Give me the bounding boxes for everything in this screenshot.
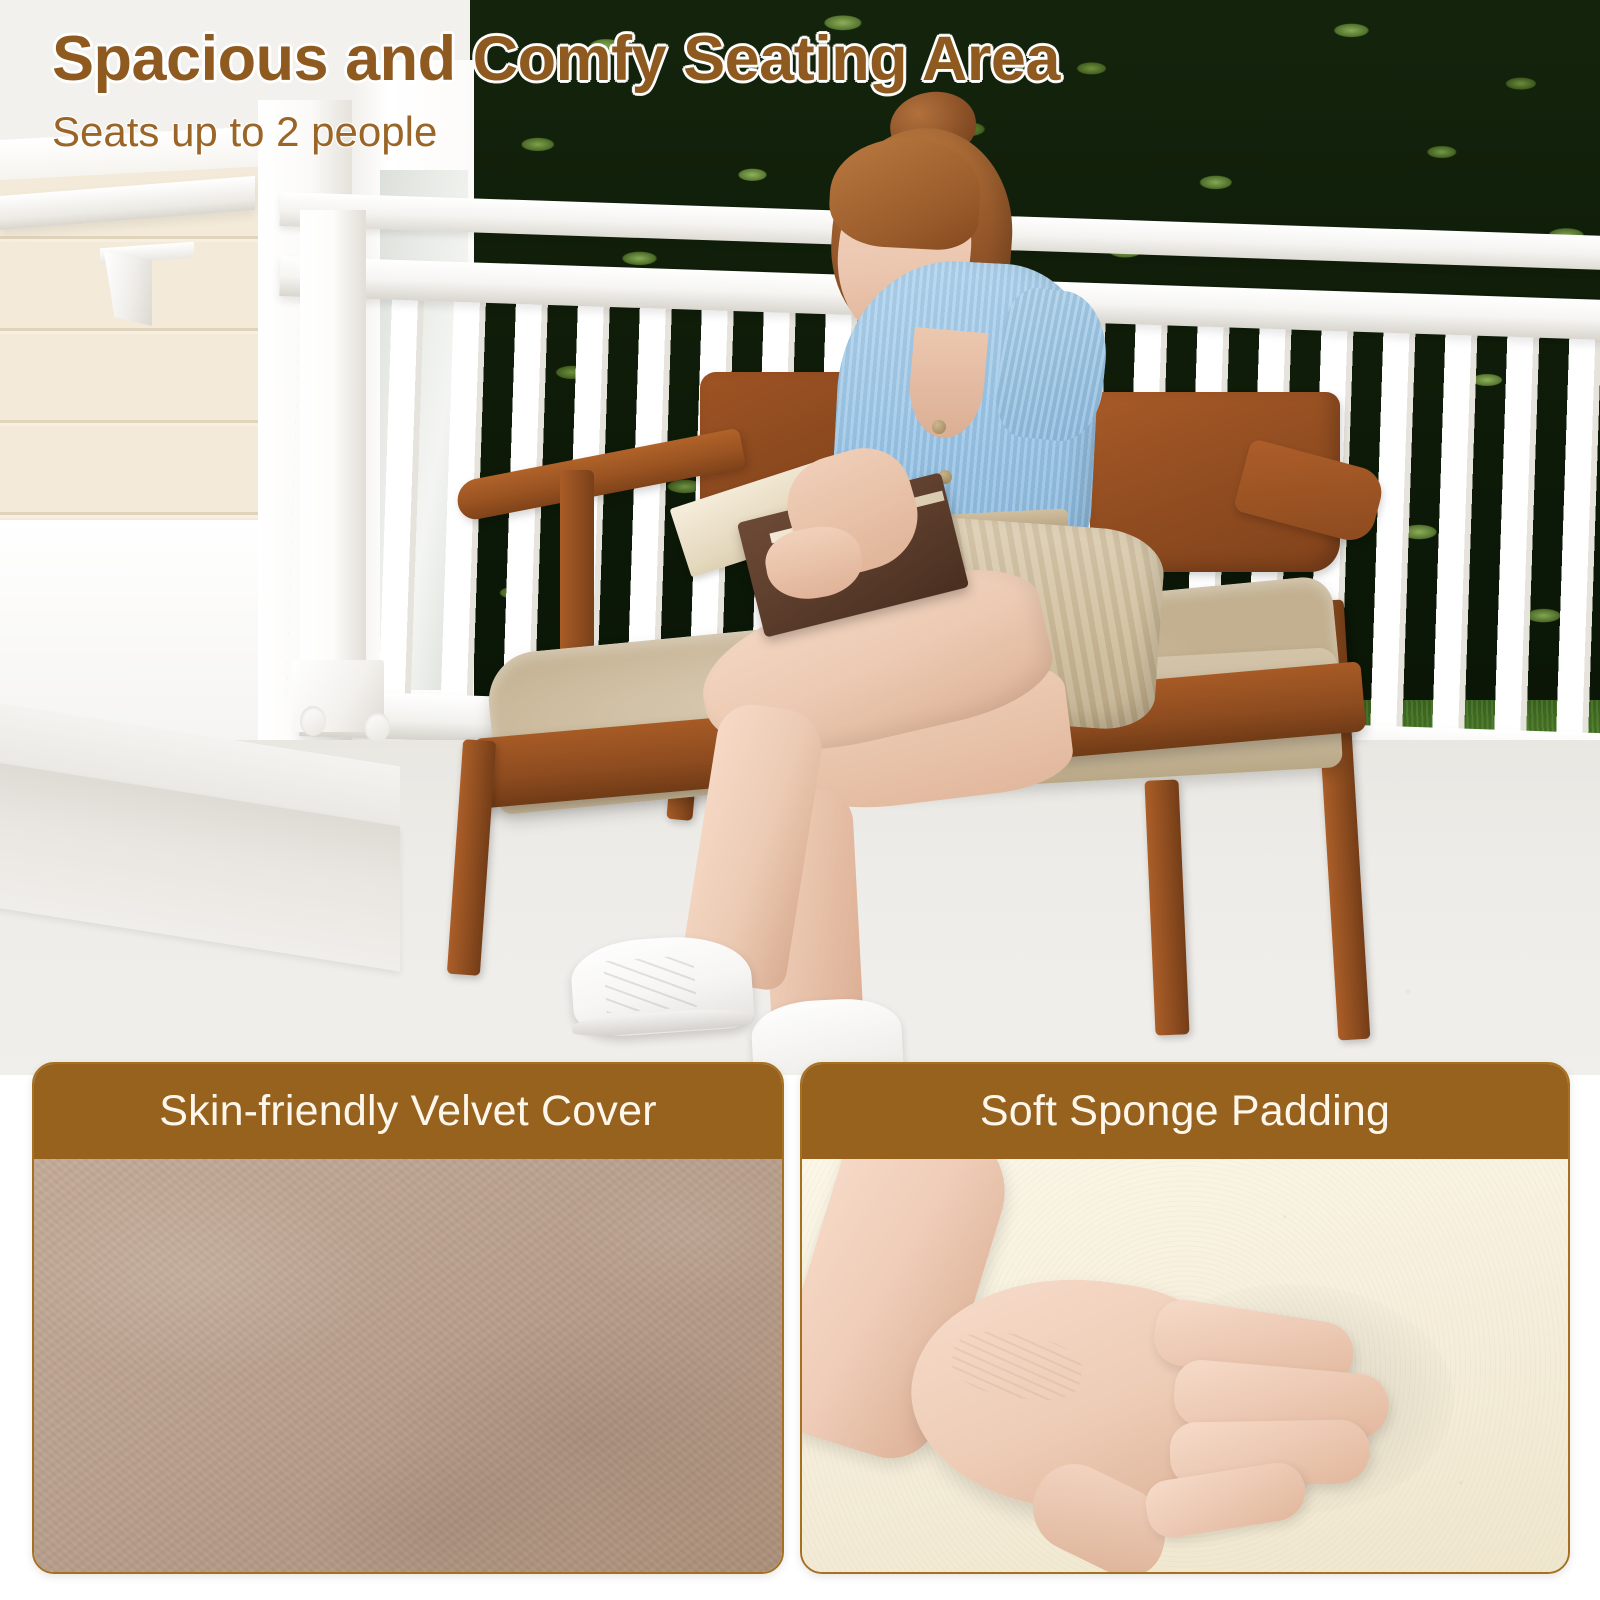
panel-title-sponge: Soft Sponge Padding <box>980 1087 1390 1136</box>
velvet-fabric-swatch <box>34 1159 782 1574</box>
page-subtitle: Seats up to 2 people <box>52 108 1060 156</box>
feature-panel-velvet-cover: Skin-friendly Velvet Cover <box>32 1062 784 1574</box>
post-cap-detail-left <box>300 706 326 736</box>
panel-header-velvet: Skin-friendly Velvet Cover <box>34 1064 782 1159</box>
panel-title-velvet: Skin-friendly Velvet Cover <box>159 1087 657 1136</box>
feature-panels: Skin-friendly Velvet Cover Soft Sponge P… <box>0 1060 1600 1600</box>
hero-image: Spacious and Comfy Seating Area Seats up… <box>0 0 1600 1075</box>
feature-panel-sponge-padding: Soft Sponge Padding <box>800 1062 1570 1574</box>
panel-body-sponge <box>802 1159 1568 1574</box>
hero-text-block: Spacious and Comfy Seating Area Seats up… <box>52 26 1060 156</box>
sneaker-laces <box>603 955 696 1013</box>
page-title: Spacious and Comfy Seating Area <box>52 26 1060 92</box>
panel-header-sponge: Soft Sponge Padding <box>802 1064 1568 1159</box>
panel-body-velvet <box>34 1159 782 1574</box>
post-cap-detail-right <box>364 712 390 742</box>
railing-post <box>300 210 366 730</box>
shirt-button-upper <box>932 420 946 434</box>
